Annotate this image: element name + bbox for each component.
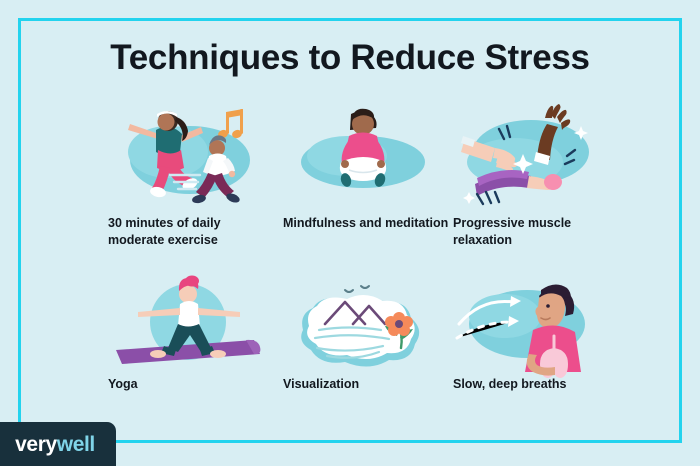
page-title: Techniques to Reduce Stress [18, 38, 682, 78]
techniques-grid: 30 minutes of daily moderate exercise [108, 100, 638, 420]
verywell-logo: verywell [0, 422, 116, 466]
technique-caption: Progressive muscle relaxation [453, 215, 621, 248]
muscle-stretch-illustration [453, 100, 613, 212]
yoga-warrior-pose-illustration [108, 268, 268, 380]
technique-card-exercise: 30 minutes of daily moderate exercise [108, 100, 278, 260]
technique-card-meditation: Mindfulness and meditation [283, 100, 453, 260]
deep-breathing-lungs-illustration [453, 268, 613, 380]
technique-caption: Visualization [283, 376, 451, 393]
logo-very-text: very [15, 433, 57, 456]
technique-card-muscle-relaxation: Progressive muscle relaxation [453, 100, 623, 260]
technique-caption: 30 minutes of daily moderate exercise [108, 215, 276, 248]
technique-card-deep-breathing: Slow, deep breaths [453, 268, 623, 428]
technique-card-visualization: Visualization [283, 268, 453, 428]
techniques-row-top: 30 minutes of daily moderate exercise [108, 100, 638, 260]
technique-caption: Slow, deep breaths [453, 376, 621, 393]
logo-well-text: well [57, 433, 95, 456]
infographic-poster: Techniques to Reduce Stress [0, 0, 700, 466]
meditation-lotus-illustration [283, 100, 443, 212]
technique-caption: Yoga [108, 376, 276, 393]
techniques-row-bottom: Yoga [108, 268, 638, 428]
technique-caption: Mindfulness and meditation [283, 215, 451, 232]
technique-card-yoga: Yoga [108, 268, 278, 428]
logo-text: verywell [15, 434, 95, 455]
mountain-landscape-illustration [283, 268, 443, 380]
running-exercise-illustration [108, 100, 268, 212]
